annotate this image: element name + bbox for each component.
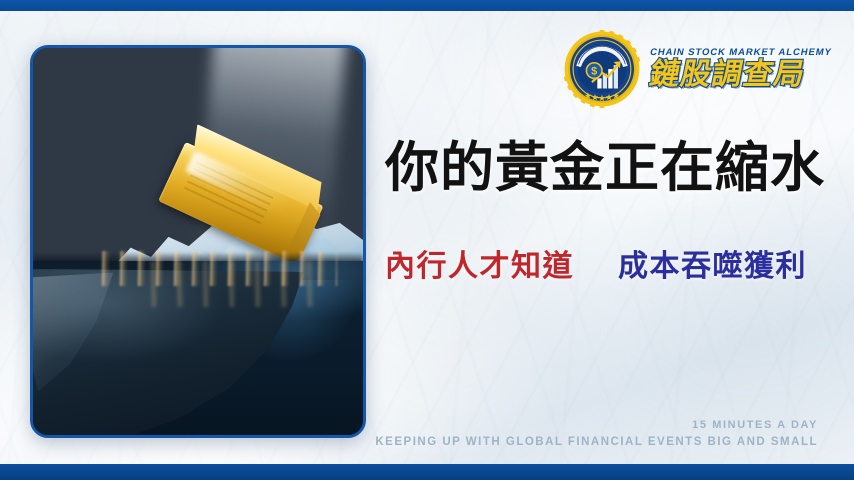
brand-wordmark: CHAIN STOCK MARKET ALCHEMY 鏈股調查局 [650,48,832,90]
sun-ripples-secondary [145,261,327,307]
tagline-line-1: 15 MINUTES A DAY [375,419,818,431]
thumbnail-canvas: $ CHAIN STOCK MARKET ALCHEMY 鏈股調查局 你的黃金正… [0,0,854,480]
svg-text:$: $ [591,65,597,77]
brand-chinese-name: 鏈股調查局 [647,60,808,90]
subtitle-right: 成本吞噬獲利 [618,241,807,285]
tagline-line-2: KEEPING UP WITH GLOBAL FINANCIAL EVENTS … [375,436,818,448]
page-title: 你的黃金正在縮水 [385,140,835,197]
subtitle-left: 內行人才知道 [385,241,574,285]
brand-lockup[interactable]: $ CHAIN STOCK MARKET ALCHEMY 鏈股調查局 [563,30,832,108]
hero-image-panel [30,45,366,438]
circular-emblem-icon: $ [563,30,641,108]
top-accent-bar [0,0,854,11]
brand-english-name: CHAIN STOCK MARKET ALCHEMY [649,48,833,58]
gold-bar-on-iceberg-photo [33,48,363,435]
bottom-accent-bar [0,464,854,480]
headline-block: 你的黃金正在縮水 內行人才知道 成本吞噬獲利 [385,140,835,285]
footer-tagline: 15 MINUTES A DAY KEEPING UP WITH GLOBAL … [375,419,818,448]
subtitle-row: 內行人才知道 成本吞噬獲利 [385,241,835,285]
